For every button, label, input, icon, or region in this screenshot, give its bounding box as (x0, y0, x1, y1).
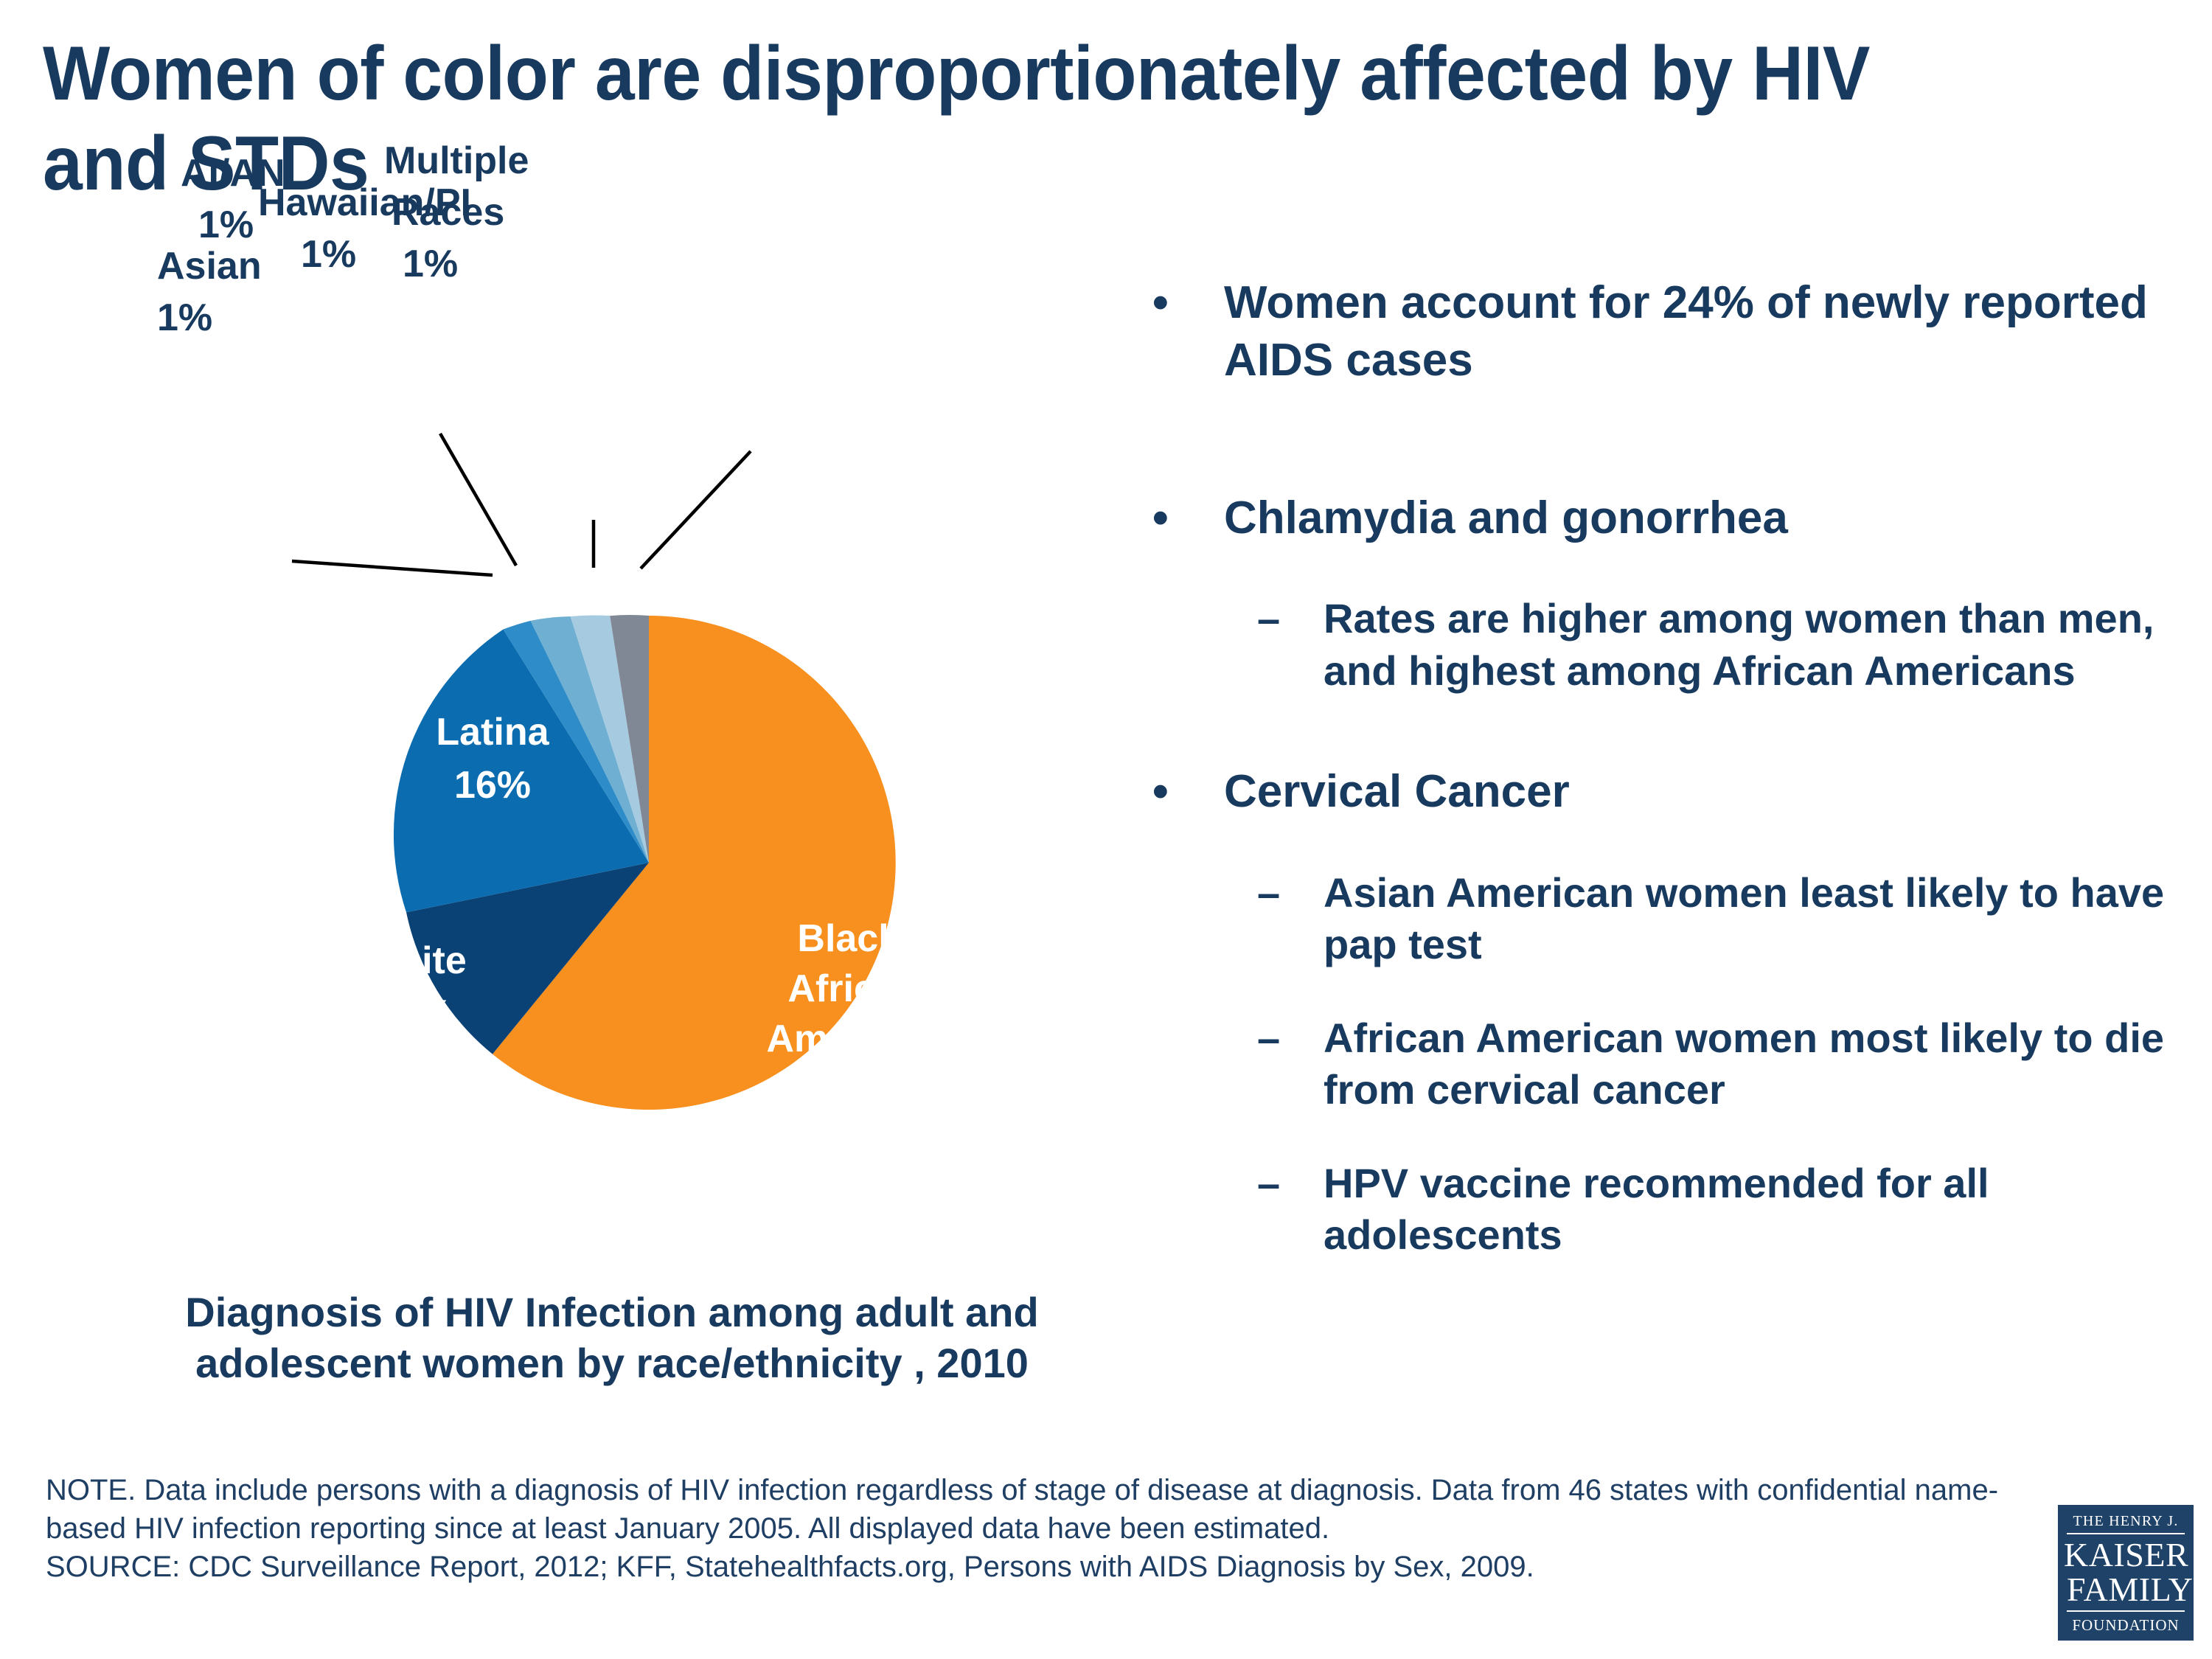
spacer (1147, 1128, 2194, 1158)
svg-text:17%: 17% (376, 992, 453, 1035)
spacer (1147, 435, 2194, 490)
bullet-text: Rates are higher among women than men, a… (1324, 595, 2154, 694)
bullet-text: Women account for 24% of newly reported … (1224, 277, 2148, 386)
svg-text:1%: 1% (198, 204, 254, 246)
dash-marker-icon: – (1257, 1012, 1280, 1065)
leader-line-asian (292, 561, 493, 575)
logo-line-family: FAMILY (2067, 1573, 2185, 1612)
svg-text:Races: Races (392, 191, 504, 234)
bullet-text: Asian American women least likely to hav… (1324, 869, 2164, 968)
svg-text:Asian: Asian (157, 245, 262, 288)
leader-line-ai-an (440, 434, 516, 566)
bullet-item-6: – African American women most likely to … (1147, 1012, 2194, 1116)
pie-chart-svg: Black/ African American 63% Latina 16% W… (0, 243, 1150, 1290)
bullet-item-1: • Women account for 24% of newly reporte… (1147, 274, 2194, 389)
chart-caption: Diagnosis of HIV Infection among adult a… (96, 1287, 1128, 1389)
slide-canvas: Women of color are disproportionately af… (0, 0, 2212, 1659)
dash-marker-icon: – (1257, 593, 1280, 645)
footer-note: NOTE. Data include persons with a diagno… (46, 1471, 2007, 1548)
bullet-item-4: • Cervical Cancer (1147, 763, 2194, 821)
kaiser-family-foundation-logo: THE HENRY J. KAISER FAMILY FOUNDATION (2058, 1505, 2194, 1641)
spacer (1147, 709, 2194, 763)
bullet-item-7: – HPV vaccine recommended for all adoles… (1147, 1158, 2194, 1262)
dash-marker-icon: – (1257, 1158, 1280, 1210)
dash-marker-icon: – (1257, 867, 1280, 919)
pie-callout-asian: Asian 1% (157, 245, 262, 339)
svg-text:1%: 1% (157, 296, 212, 339)
chart-caption-line2: adolescent women by race/ethnicity , 201… (96, 1338, 1128, 1388)
logo-line-foundation: FOUNDATION (2064, 1618, 2188, 1633)
footer-source: SOURCE: CDC Surveillance Report, 2012; K… (46, 1548, 2007, 1586)
bullet-text: Chlamydia and gonorrhea (1224, 493, 1788, 543)
svg-text:63%: 63% (815, 1071, 892, 1113)
svg-text:1%: 1% (403, 243, 458, 285)
bullet-marker-icon: • (1152, 274, 1169, 332)
svg-text:White: White (362, 939, 467, 982)
svg-text:African: African (787, 967, 919, 1010)
bullet-marker-icon: • (1152, 763, 1169, 821)
svg-text:American: American (767, 1018, 942, 1060)
svg-text:16%: 16% (454, 764, 531, 807)
bullet-text: Cervical Cancer (1224, 766, 1570, 817)
bullet-item-3: – Rates are higher among women than men,… (1147, 593, 2194, 697)
svg-text:1%: 1% (301, 233, 356, 276)
pie-chart-region: Black/ African American 63% Latina 16% W… (0, 243, 1150, 1467)
bullet-marker-icon: • (1152, 490, 1169, 547)
chart-caption-line1: Diagnosis of HIV Infection among adult a… (96, 1287, 1128, 1338)
bullet-list: • Women account for 24% of newly reporte… (1147, 274, 2194, 1273)
pie-callout-multiple-races: Multiple Races 1% (384, 139, 529, 285)
bullet-item-5: – Asian American women least likely to h… (1147, 867, 2194, 971)
svg-text:Multiple: Multiple (384, 139, 529, 182)
svg-text:Latina: Latina (436, 711, 549, 754)
spacer (1147, 983, 2194, 1012)
footer-notes: NOTE. Data include persons with a diagno… (46, 1471, 2007, 1586)
logo-line-the-henry-j: THE HENRY J. (2067, 1514, 2185, 1534)
bullet-item-2: • Chlamydia and gonorrhea (1147, 490, 2194, 547)
svg-text:Black/: Black/ (797, 917, 910, 960)
bullet-text: African American women most likely to di… (1324, 1015, 2164, 1113)
logo-line-kaiser: KAISER (2064, 1538, 2188, 1573)
bullet-text: HPV vaccine recommended for all adolesce… (1324, 1160, 1989, 1259)
leader-line-multiple-races (641, 451, 751, 568)
